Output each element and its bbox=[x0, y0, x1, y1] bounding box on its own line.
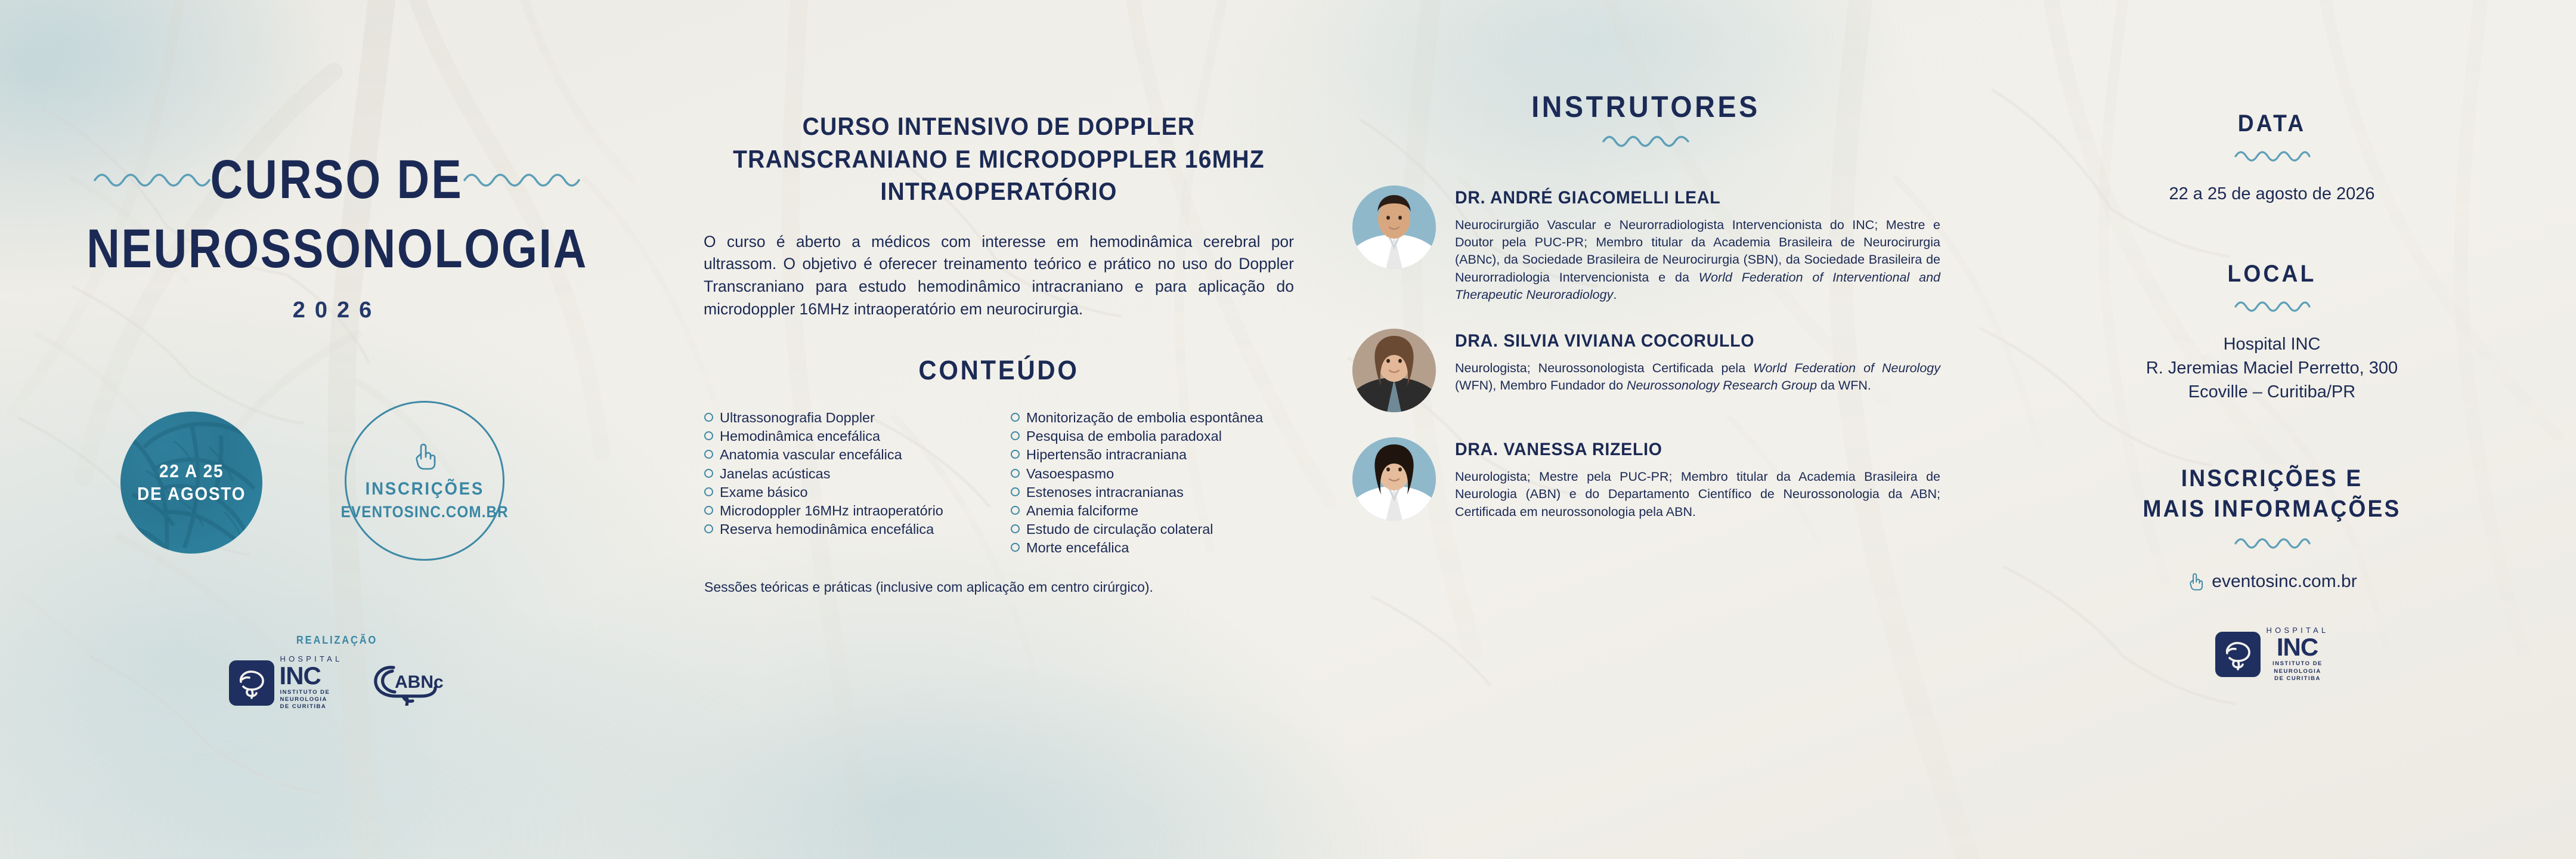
bullet-ring-icon bbox=[704, 524, 713, 533]
realizacao-label: REALIZAÇÃO bbox=[27, 634, 647, 647]
inc-logo-sub-3: DE CURITIBA bbox=[2267, 675, 2329, 682]
instructor-avatar bbox=[1352, 437, 1436, 521]
instructor-avatar bbox=[1352, 329, 1436, 412]
inc-wordmark: HOSPITAL INC INSTITUTO DE NEUROLOGIA DE … bbox=[280, 655, 343, 710]
data-heading: DATA bbox=[1989, 110, 2555, 137]
list-item-label: Hipertensão intracraniana bbox=[1026, 446, 1187, 464]
course-title: CURSO INTENSIVO DE DOPPLER TRANSCRANIANO… bbox=[722, 110, 1276, 208]
bullet-ring-icon bbox=[1011, 413, 1020, 422]
list-item: Estenoses intracranianas bbox=[1011, 483, 1293, 501]
hero-column: CURSO DE NEUROSSONOLOGIA 2026 bbox=[0, 0, 674, 859]
list-item: Janelas acústicas bbox=[704, 465, 987, 483]
date-badge-circle: 22 A 25 DE AGOSTO bbox=[120, 412, 262, 554]
inc-logo-sub-3: DE CURITIBA bbox=[280, 703, 343, 710]
local-lines: Hospital INC R. Jeremias Maciel Perretto… bbox=[1968, 332, 2576, 404]
squiggle-decoration-instructors bbox=[1324, 131, 1968, 155]
list-item: Anatomia vascular encefálica bbox=[704, 446, 987, 464]
list-item-label: Pesquisa de embolia paradoxal bbox=[1026, 427, 1222, 445]
bullet-ring-icon bbox=[704, 431, 713, 440]
instructor-item: DRA. VANESSA RIZELIONeurologista; Mestre… bbox=[1324, 437, 1968, 521]
list-item-label: Microdoppler 16MHz intraoperatório bbox=[720, 502, 943, 520]
inc-brain-mark-icon bbox=[2215, 632, 2261, 677]
list-item: Estudo de circulação colateral bbox=[1011, 520, 1293, 538]
list-item-label: Estudo de circulação colateral bbox=[1026, 520, 1213, 538]
list-item-label: Janelas acústicas bbox=[720, 465, 831, 483]
date-badge-line-1: 22 A 25 bbox=[137, 460, 246, 483]
bullet-ring-icon bbox=[704, 469, 713, 478]
bullet-ring-icon bbox=[1011, 543, 1020, 552]
list-item: Vasoespasmo bbox=[1011, 465, 1293, 483]
bullet-ring-icon bbox=[1011, 431, 1020, 440]
list-item: Reserva hemodinâmica encefálica bbox=[704, 520, 987, 538]
bullet-ring-icon bbox=[1011, 469, 1020, 478]
list-item: Hemodinâmica encefálica bbox=[704, 427, 987, 445]
list-item-label: Exame básico bbox=[720, 483, 808, 501]
website-url[interactable]: eventosinc.com.br bbox=[2212, 571, 2357, 592]
conteudo-heading: CONTEÚDO bbox=[722, 355, 1276, 386]
pointing-hand-icon bbox=[411, 441, 438, 472]
instructor-bio: Neurologista; Neurossonologista Certific… bbox=[1455, 360, 1940, 394]
instructor-avatar bbox=[1352, 186, 1436, 269]
inc-logo-main: INC bbox=[2266, 635, 2329, 660]
list-item-label: Anemia falciforme bbox=[1026, 502, 1138, 520]
bullet-ring-icon bbox=[1011, 487, 1020, 496]
registration-url[interactable]: EVENTOSINC.COM.BR bbox=[340, 503, 508, 521]
pointing-hand-icon bbox=[2187, 571, 2205, 592]
list-item: Monitorização de embolia espontânea bbox=[1011, 409, 1293, 427]
date-badge-text: 22 A 25 DE AGOSTO bbox=[131, 460, 252, 505]
list-item: Microdoppler 16MHz intraoperatório bbox=[704, 502, 987, 520]
list-item: Exame básico bbox=[704, 483, 987, 501]
instructor-body: DRA. SILVIA VIVIANA COCORULLONeurologist… bbox=[1455, 329, 1940, 412]
bullet-ring-icon bbox=[704, 413, 713, 422]
course-column: CURSO INTENSIVO DE DOPPLER TRANSCRANIANO… bbox=[674, 0, 1324, 859]
list-item-label: Ultrassonografia Doppler bbox=[720, 409, 875, 427]
registration-heading-line-2: MAIS INFORMAÇÕES bbox=[1989, 494, 2555, 524]
conteudo-list-left: Ultrassonografia DopplerHemodinâmica enc… bbox=[704, 409, 987, 557]
squiggle-decoration-data bbox=[1968, 147, 2576, 169]
list-item: Hipertensão intracraniana bbox=[1011, 446, 1293, 464]
conteudo-lists: Ultrassonografia DopplerHemodinâmica enc… bbox=[701, 409, 1297, 557]
list-item-label: Hemodinâmica encefálica bbox=[720, 427, 880, 445]
list-item-label: Anatomia vascular encefálica bbox=[720, 446, 902, 464]
inc-logo-main: INC bbox=[280, 663, 343, 688]
instructor-bio: Neurologista; Mestre pela PUC-PR; Membro… bbox=[1455, 468, 1940, 521]
course-description: O curso é aberto a médicos com interesse… bbox=[701, 231, 1297, 321]
bullet-ring-icon bbox=[1011, 524, 1020, 533]
local-line-3: Ecoville – Curitiba/PR bbox=[1968, 380, 2576, 404]
hero-title-block: CURSO DE NEUROSSONOLOGIA 2026 bbox=[0, 152, 674, 323]
bullet-ring-icon bbox=[1011, 450, 1020, 459]
instructor-bio: Neurocirurgião Vascular e Neurorradiolog… bbox=[1455, 217, 1940, 304]
squiggle-decoration-local bbox=[1968, 297, 2576, 319]
conteudo-list-right: Monitorização de embolia espontâneaPesqu… bbox=[1011, 409, 1293, 557]
list-item-label: Reserva hemodinâmica encefálica bbox=[720, 520, 934, 538]
bullet-ring-icon bbox=[704, 487, 713, 496]
instructors-heading: INSTRUTORES bbox=[1346, 89, 1945, 124]
local-line-2: R. Jeremias Maciel Perretto, 300 bbox=[1968, 356, 2576, 380]
instructor-name: DRA. VANESSA RIZELIO bbox=[1455, 440, 1916, 460]
date-badge-line-2: DE AGOSTO bbox=[137, 483, 246, 505]
info-hospital-inc-logo: HOSPITAL INC INSTITUTO DE NEUROLOGIA DE … bbox=[1968, 626, 2576, 682]
abnc-logo: ABNc bbox=[370, 658, 445, 706]
registration-circle-badge[interactable]: INSCRIÇÕES EVENTOSINC.COM.BR bbox=[345, 401, 504, 561]
website-row[interactable]: eventosinc.com.br bbox=[1968, 571, 2576, 592]
instructor-item: DR. ANDRÉ GIACOMELLI LEALNeurocirurgião … bbox=[1324, 186, 1968, 304]
registration-heading-line-1: INSCRIÇÕES E bbox=[1989, 464, 2555, 494]
list-item-label: Vasoespasmo bbox=[1026, 465, 1114, 483]
info-column: DATA 22 a 25 de agosto de 2026 LOCAL Hos… bbox=[1968, 0, 2576, 859]
list-item-label: Estenoses intracranianas bbox=[1026, 483, 1184, 501]
inc-logo-sub-2: NEUROLOGIA bbox=[2267, 668, 2329, 675]
abnc-logo-text: ABNc bbox=[395, 672, 444, 692]
inc-logo-sub-1: INSTITUTO DE bbox=[2267, 660, 2329, 668]
list-item: Ultrassonografia Doppler bbox=[704, 409, 987, 427]
list-item: Anemia falciforme bbox=[1011, 502, 1293, 520]
local-line-1: Hospital INC bbox=[1968, 332, 2576, 356]
bullet-ring-icon bbox=[1011, 506, 1020, 515]
instructors-list: DR. ANDRÉ GIACOMELLI LEALNeurocirurgião … bbox=[1324, 186, 1968, 521]
instructor-name: DRA. SILVIA VIVIANA COCORULLO bbox=[1455, 331, 1916, 351]
instructor-body: DR. ANDRÉ GIACOMELLI LEALNeurocirurgião … bbox=[1455, 186, 1940, 304]
registration-heading: INSCRIÇÕES E MAIS INFORMAÇÕES bbox=[1989, 464, 2555, 524]
bullet-ring-icon bbox=[704, 450, 713, 459]
local-heading: LOCAL bbox=[1989, 261, 2555, 288]
inc-logo-sub-2: NEUROLOGIA bbox=[280, 696, 343, 703]
instructors-column: INSTRUTORES DR. ANDRÉ GIACOMELLI LEALNeu… bbox=[1324, 0, 1968, 859]
inc-logo-sub-1: INSTITUTO DE bbox=[280, 689, 343, 696]
list-item-label: Morte encefálica bbox=[1026, 539, 1129, 557]
bullet-ring-icon bbox=[704, 506, 713, 515]
data-value: 22 a 25 de agosto de 2026 bbox=[1968, 182, 2576, 206]
squiggle-decoration-registration bbox=[1968, 534, 2576, 556]
hero-title-line-2: NEUROSSONOLOGIA bbox=[86, 218, 588, 281]
inc-brain-mark-icon bbox=[229, 660, 274, 706]
list-item: Morte encefálica bbox=[1011, 539, 1293, 557]
list-item-label: Monitorização de embolia espontânea bbox=[1026, 409, 1263, 427]
sessions-note: Sessões teóricas e práticas (inclusive c… bbox=[701, 577, 1213, 597]
list-item: Pesquisa de embolia paradoxal bbox=[1011, 427, 1293, 445]
registration-label: INSCRIÇÕES bbox=[365, 479, 484, 499]
partner-logos-row: HOSPITAL INC INSTITUTO DE NEUROLOGIA DE … bbox=[0, 655, 674, 710]
hero-title-line-1: CURSO DE bbox=[210, 152, 463, 207]
instructor-name: DR. ANDRÉ GIACOMELLI LEAL bbox=[1455, 188, 1916, 208]
hero-year: 2026 bbox=[0, 298, 674, 323]
instructor-body: DRA. VANESSA RIZELIONeurologista; Mestre… bbox=[1455, 437, 1940, 521]
instructor-item: DRA. SILVIA VIVIANA COCORULLONeurologist… bbox=[1324, 329, 1968, 412]
hospital-inc-logo: HOSPITAL INC INSTITUTO DE NEUROLOGIA DE … bbox=[229, 655, 343, 710]
